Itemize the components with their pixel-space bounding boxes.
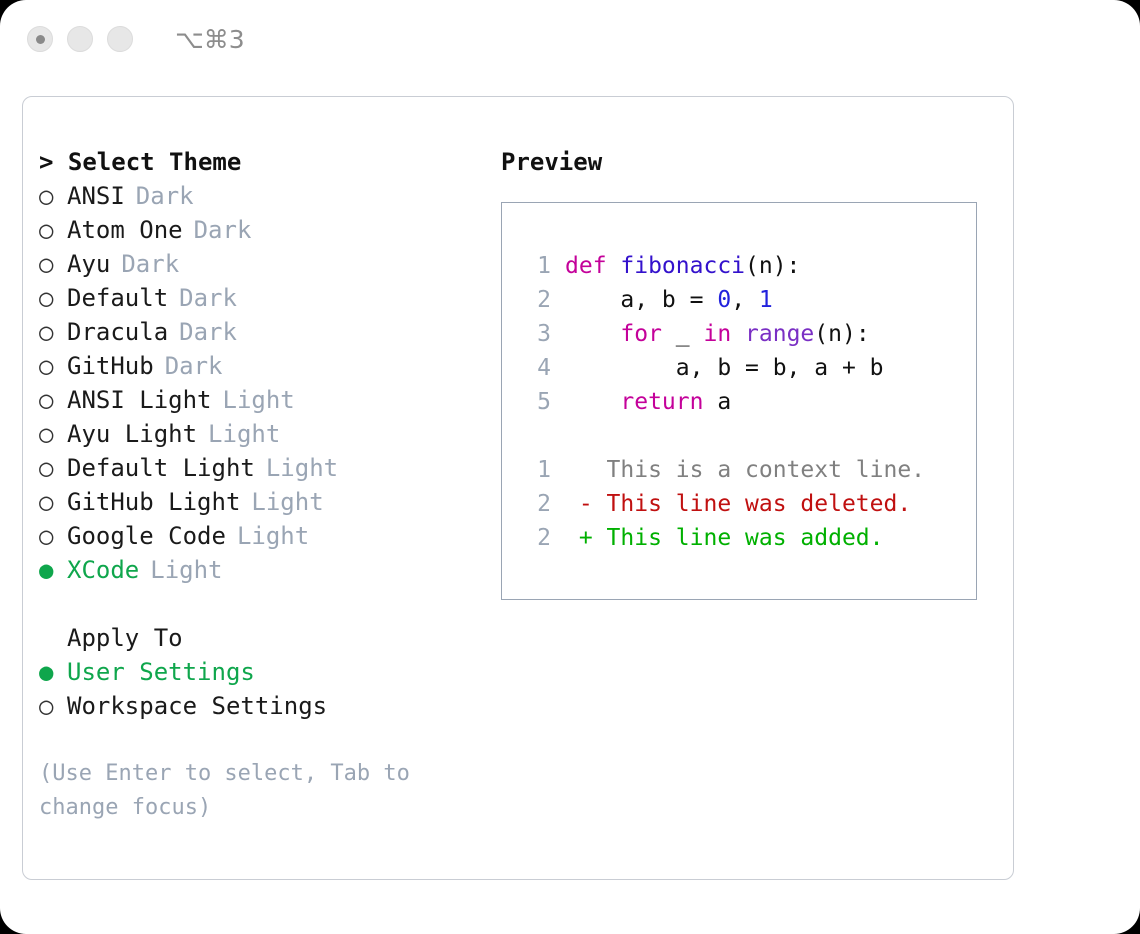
- line-number: 2: [523, 487, 551, 521]
- apply-to-list: ●User Settings○Workspace Settings: [39, 655, 479, 723]
- code-line-4: 5 return a: [523, 385, 976, 419]
- apply-to-option-label: Workspace Settings: [67, 689, 327, 723]
- theme-option-label: ANSI Light: [67, 383, 212, 417]
- line-number: 1: [523, 453, 551, 487]
- diff-block: 1 This is a context line.2 - This line w…: [523, 453, 976, 555]
- theme-option-kind: Light: [255, 451, 338, 485]
- diff-line-2: 2 + This line was added.: [523, 521, 976, 555]
- code-line-3: 4 a, b = b, a + b: [523, 351, 976, 385]
- token-add: + This line was added.: [565, 525, 884, 551]
- hint-spacer: [39, 723, 479, 757]
- token-txt: ,: [731, 287, 759, 313]
- token-kw: in: [703, 321, 731, 347]
- theme-option-2[interactable]: ○AyuDark: [39, 247, 479, 281]
- theme-list: ○ANSIDark○Atom OneDark○AyuDark○DefaultDa…: [39, 179, 479, 587]
- token-txt: (n):: [745, 253, 800, 279]
- diff-line-0: 1 This is a context line.: [523, 453, 976, 487]
- line-number: 4: [523, 351, 551, 385]
- diff-line-content: + This line was added.: [565, 521, 884, 555]
- theme-option-kind: Light: [212, 383, 295, 417]
- theme-option-label: Atom One: [67, 213, 183, 247]
- theme-option-label: Default: [67, 281, 168, 315]
- radio-unselected-icon: ○: [39, 689, 67, 723]
- keyboard-shortcut-label: ⌥⌘3: [175, 25, 245, 54]
- theme-option-label: Ayu Light: [67, 417, 197, 451]
- theme-option-label: GitHub: [67, 349, 154, 383]
- radio-unselected-icon: ○: [39, 179, 67, 213]
- theme-option-5[interactable]: ○GitHubDark: [39, 349, 479, 383]
- token-txt: [565, 321, 620, 347]
- token-txt: _: [662, 321, 704, 347]
- theme-option-label: GitHub Light: [67, 485, 240, 519]
- code-line-content: return a: [565, 385, 731, 419]
- theme-picker-column: > Select Theme ○ANSIDark○Atom OneDark○Ay…: [39, 145, 479, 825]
- line-number: 2: [523, 283, 551, 317]
- theme-option-label: XCode: [67, 553, 139, 587]
- token-txt: a: [703, 389, 731, 415]
- token-txt: a, b = b, a + b: [565, 355, 884, 381]
- theme-option-11[interactable]: ●XCodeLight: [39, 553, 479, 587]
- preview-box: 1def fibonacci(n):2 a, b = 0, 13 for _ i…: [501, 202, 977, 600]
- token-kw: def: [565, 253, 620, 279]
- token-txt: [731, 321, 745, 347]
- code-line-content: a, b = 0, 1: [565, 283, 773, 317]
- theme-option-6[interactable]: ○ANSI LightLight: [39, 383, 479, 417]
- token-ctx: This is a context line.: [565, 457, 925, 483]
- apply-to-heading: Apply To: [39, 621, 479, 655]
- theme-option-8[interactable]: ○Default LightLight: [39, 451, 479, 485]
- theme-option-label: Ayu: [67, 247, 110, 281]
- preview-title: Preview: [501, 145, 1001, 179]
- radio-unselected-icon: ○: [39, 247, 67, 281]
- apply-to-option-0[interactable]: ●User Settings: [39, 655, 479, 689]
- token-kw: for: [620, 321, 662, 347]
- radio-unselected-icon: ○: [39, 451, 67, 485]
- code-line-1: 2 a, b = 0, 1: [523, 283, 976, 317]
- line-number: 2: [523, 521, 551, 555]
- theme-option-kind: Light: [226, 519, 309, 553]
- token-txt: a, b =: [565, 287, 717, 313]
- app-window: ⌥⌘3 > Select Theme ○ANSIDark○Atom OneDar…: [0, 0, 1140, 934]
- window-dot-active-inner: [36, 35, 45, 44]
- token-txt: (n):: [814, 321, 869, 347]
- diff-line-content: This is a context line.: [565, 453, 925, 487]
- keyboard-hint: (Use Enter to select, Tab to change focu…: [39, 757, 439, 825]
- theme-option-kind: Light: [240, 485, 323, 519]
- code-diff-separator: [523, 419, 976, 453]
- theme-option-7[interactable]: ○Ayu LightLight: [39, 417, 479, 451]
- theme-option-kind: Dark: [154, 349, 223, 383]
- radio-unselected-icon: ○: [39, 281, 67, 315]
- theme-option-1[interactable]: ○Atom OneDark: [39, 213, 479, 247]
- token-num: 1: [759, 287, 773, 313]
- code-line-2: 3 for _ in range(n):: [523, 317, 976, 351]
- theme-option-label: Default Light: [67, 451, 255, 485]
- radio-unselected-icon: ○: [39, 485, 67, 519]
- radio-selected-icon: ●: [39, 553, 67, 587]
- diff-line-content: - This line was deleted.: [565, 487, 911, 521]
- token-kw: return: [620, 389, 703, 415]
- radio-unselected-icon: ○: [39, 417, 67, 451]
- main-panel: > Select Theme ○ANSIDark○Atom OneDark○Ay…: [22, 96, 1014, 880]
- line-number: 1: [523, 249, 551, 283]
- diff-line-1: 2 - This line was deleted.: [523, 487, 976, 521]
- radio-unselected-icon: ○: [39, 213, 67, 247]
- token-call: range: [745, 321, 814, 347]
- theme-option-label: Dracula: [67, 315, 168, 349]
- radio-unselected-icon: ○: [39, 519, 67, 553]
- window-dot-3[interactable]: [107, 26, 133, 52]
- radio-unselected-icon: ○: [39, 349, 67, 383]
- window-dot-2[interactable]: [67, 26, 93, 52]
- line-number: 3: [523, 317, 551, 351]
- theme-option-label: ANSI: [67, 179, 125, 213]
- apply-to-option-label: User Settings: [67, 655, 255, 689]
- theme-option-kind: Dark: [168, 315, 237, 349]
- radio-unselected-icon: ○: [39, 383, 67, 417]
- code-line-0: 1def fibonacci(n):: [523, 249, 976, 283]
- radio-unselected-icon: ○: [39, 315, 67, 349]
- theme-option-9[interactable]: ○GitHub LightLight: [39, 485, 479, 519]
- token-txt: [565, 389, 620, 415]
- line-number: 5: [523, 385, 551, 419]
- theme-option-kind: Light: [139, 553, 222, 587]
- theme-option-kind: Dark: [168, 281, 237, 315]
- theme-option-10[interactable]: ○Google CodeLight: [39, 519, 479, 553]
- window-dot-active[interactable]: [27, 26, 53, 52]
- token-num: 0: [717, 287, 731, 313]
- theme-option-3[interactable]: ○DefaultDark: [39, 281, 479, 315]
- code-line-content: a, b = b, a + b: [565, 351, 884, 385]
- token-del: - This line was deleted.: [565, 491, 911, 517]
- code-line-content: def fibonacci(n):: [565, 249, 800, 283]
- list-spacer: [39, 587, 479, 621]
- apply-to-option-1[interactable]: ○Workspace Settings: [39, 689, 479, 723]
- theme-option-label: Google Code: [67, 519, 226, 553]
- theme-option-kind: Dark: [183, 213, 252, 247]
- code-line-content: for _ in range(n):: [565, 317, 870, 351]
- theme-option-4[interactable]: ○DraculaDark: [39, 315, 479, 349]
- window-titlebar: ⌥⌘3: [0, 0, 1140, 78]
- theme-option-0[interactable]: ○ANSIDark: [39, 179, 479, 213]
- theme-option-kind: Light: [197, 417, 280, 451]
- theme-option-kind: Dark: [125, 179, 194, 213]
- preview-column: Preview 1def fibonacci(n):2 a, b = 0, 13…: [501, 145, 1001, 600]
- theme-option-kind: Dark: [110, 247, 179, 281]
- token-fn: fibonacci: [620, 253, 745, 279]
- select-theme-heading: > Select Theme: [39, 145, 479, 179]
- radio-selected-icon: ●: [39, 655, 67, 689]
- code-block: 1def fibonacci(n):2 a, b = 0, 13 for _ i…: [523, 249, 976, 419]
